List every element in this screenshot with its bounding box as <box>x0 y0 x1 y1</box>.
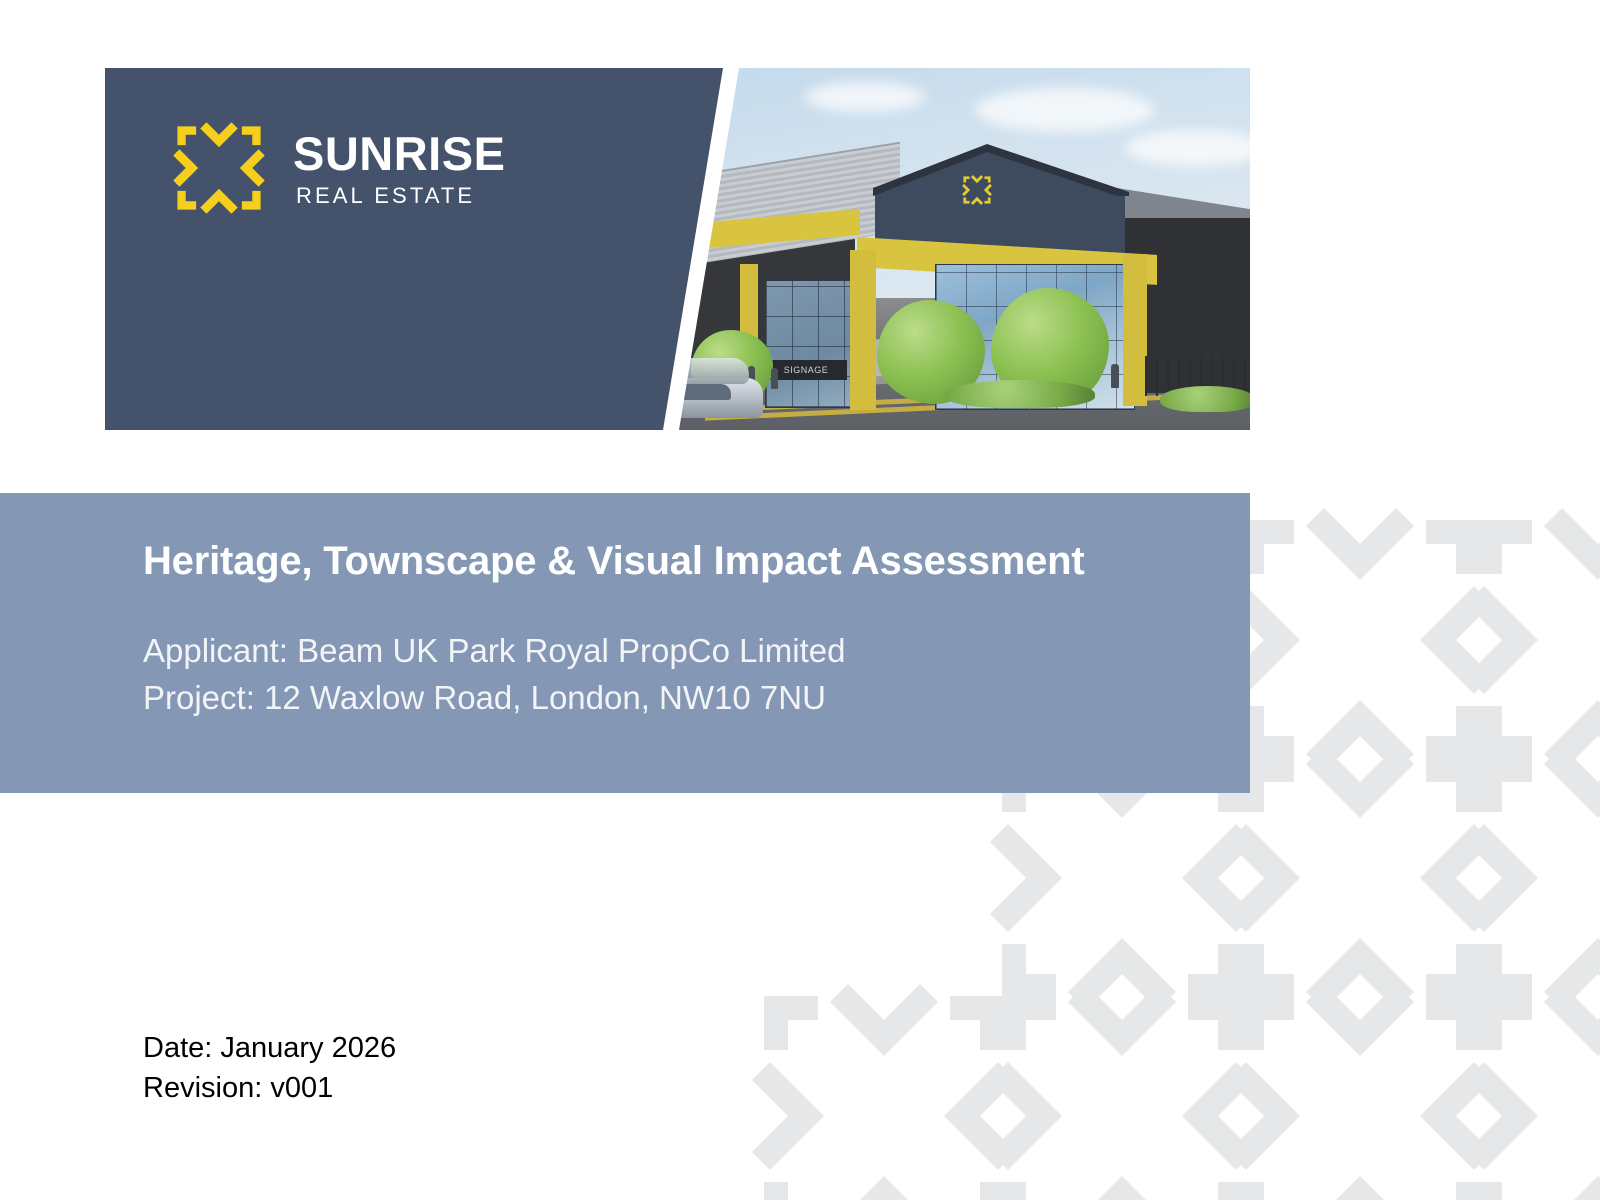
project-line: Project: 12 Waxlow Road, London, NW10 7N… <box>143 675 1226 722</box>
cloud <box>975 88 1155 132</box>
watermark-star-icon <box>1210 966 1510 1200</box>
cover-header-banner: SIGNAGE <box>105 68 1250 430</box>
title-band: Heritage, Townscape & Visual Impact Asse… <box>0 493 1250 793</box>
brand-name: SUNRISE <box>293 130 505 177</box>
brand-lockup: SUNRISE REAL ESTATE <box>167 116 505 220</box>
shrub <box>1160 386 1250 412</box>
person <box>1111 364 1119 388</box>
document-cover-page: SIGNAGE <box>0 0 1600 1200</box>
entrance-glazing <box>765 280 857 408</box>
watermark-star-icon <box>1210 728 1510 1028</box>
title-band-content: Heritage, Townscape & Visual Impact Asse… <box>143 538 1226 722</box>
watermark-star-icon <box>1448 966 1600 1200</box>
shrub <box>945 380 1095 408</box>
brand-wordmark: SUNRISE REAL ESTATE <box>293 130 505 207</box>
page-title: Heritage, Townscape & Visual Impact Asse… <box>143 538 1226 584</box>
building-column <box>1123 254 1147 406</box>
project-meta: Applicant: Beam UK Park Royal PropCo Lim… <box>143 628 1226 722</box>
watermark-star-icon <box>734 966 1034 1200</box>
watermark-star-icon <box>1448 490 1600 790</box>
document-footer: Date: January 2026 Revision: v001 <box>143 1028 396 1108</box>
watermark-star-icon <box>972 966 1272 1200</box>
building-column <box>850 250 876 410</box>
person <box>771 368 778 389</box>
applicant-line: Applicant: Beam UK Park Royal PropCo Lim… <box>143 628 1226 675</box>
watermark-star-icon <box>1448 728 1600 1028</box>
building-sunrise-star-logo-icon <box>960 173 994 212</box>
cloud <box>805 82 925 112</box>
watermark-star-icon <box>1210 490 1510 790</box>
revision-line: Revision: v001 <box>143 1068 396 1108</box>
brand-tagline: REAL ESTATE <box>296 185 505 207</box>
date-line: Date: January 2026 <box>143 1028 396 1068</box>
sunrise-star-logo-icon <box>167 116 271 220</box>
